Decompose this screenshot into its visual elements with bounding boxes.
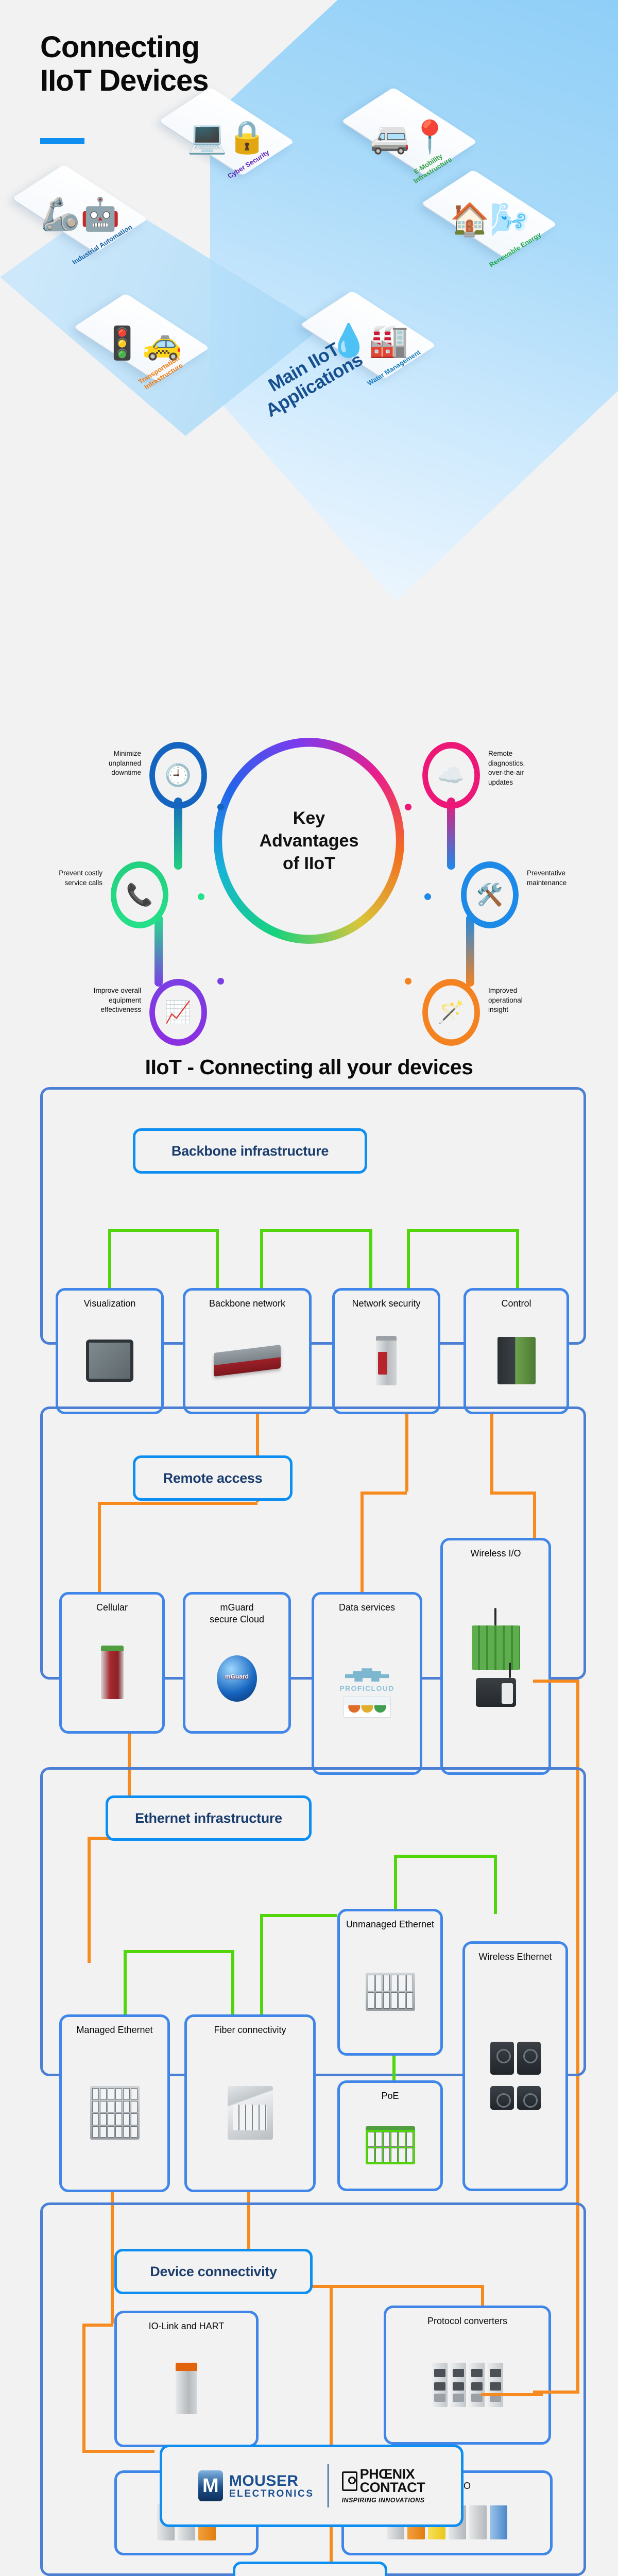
title-underline-rule [40, 138, 84, 144]
ev-charging-station-icon: 🚐📍 [369, 87, 451, 154]
card-control[interactable]: Control [463, 1288, 569, 1414]
card-visualization[interactable]: Visualization [56, 1288, 164, 1414]
cellular-router-icon [62, 1614, 162, 1731]
wire-green [260, 1914, 337, 1917]
mouser-m-mark-icon: M [198, 2470, 223, 2501]
card-wireless-ethernet[interactable]: Wireless Ethernet [462, 1941, 568, 2191]
wire-green [407, 1229, 410, 1291]
wrench-screwdriver-icon: 🛠️ [461, 861, 519, 928]
advantage-dot [217, 978, 224, 985]
advantage-remote-diagnostics-ota-updates[interactable]: ☁️ Remote diagnostics, over-the-air upda… [422, 742, 480, 809]
group-heading-remote-access: Remote access [133, 1455, 293, 1501]
wire-green [369, 1229, 372, 1291]
proficloud-mark-icon [345, 1668, 389, 1682]
card-label: Data services [339, 1602, 395, 1614]
card-label: Unmanaged Ethernet [346, 1919, 434, 1930]
card-label: mGuard secure Cloud [210, 1602, 264, 1626]
advantage-dot [198, 893, 204, 900]
logo-divider [328, 2464, 329, 2507]
poe-switch-icon [340, 2102, 440, 2189]
io-link-module-icon [117, 2332, 256, 2445]
card-cellular[interactable]: Cellular [59, 1592, 165, 1734]
mouser-electronics-logo[interactable]: M MOUSER ELECTRONICS [198, 2470, 314, 2501]
phoenix-contact-logo[interactable]: PHŒNIX CONTACT INSPIRING INNOVATIONS [342, 2468, 425, 2504]
laptop-padlock-icon: 💻🔒 [186, 87, 268, 154]
mouser-subtitle: ELECTRONICS [229, 2489, 314, 2499]
diagram-title: IIoT - Connecting all your devices [0, 1055, 618, 1079]
phoenix-p-mark-icon [342, 2471, 357, 2491]
advantage-label: Preventative maintenance [527, 869, 604, 888]
rack-server-icon [185, 1310, 309, 1412]
protocol-converter-icon [386, 2327, 548, 2442]
group-heading-backbone-infrastructure: Backbone infrastructure [133, 1128, 367, 1174]
advantage-dot [217, 804, 224, 810]
wire-green [216, 1229, 219, 1291]
advantage-dot [405, 978, 411, 985]
card-unmanaged-ethernet[interactable]: Unmanaged Ethernet [337, 1909, 443, 2056]
proficloud-icon: PROFICLOUD [314, 1614, 420, 1772]
short-url-box[interactable]: mou.sr/ph-iiot [233, 2562, 387, 2576]
wire-green [407, 1229, 519, 1232]
din-rail-firewall-icon [335, 1310, 438, 1412]
managed-switch-icon [62, 2036, 167, 2190]
card-label: Visualization [84, 1298, 136, 1310]
card-managed-ethernet[interactable]: Managed Ethernet [59, 2014, 170, 2192]
card-label: Fiber connectivity [214, 2024, 286, 2036]
card-poe[interactable]: PoE [337, 2080, 443, 2191]
card-mguard-secure-cloud[interactable]: mGuard secure Cloud [183, 1592, 291, 1734]
wireless-access-point-icon [465, 1963, 565, 2189]
wire-green [260, 1229, 263, 1291]
solar-panel-wind-turbine-icon: 🏠🌬️ [449, 169, 531, 236]
advantage-minimize-unplanned-downtime[interactable]: 🕘 Minimize unplanned downtime [149, 742, 207, 809]
wire-green [260, 1914, 263, 2017]
dashboard-thumbnail [344, 1697, 391, 1718]
advantage-label: Prevent costly service calls [25, 869, 102, 888]
wire-green [394, 1855, 397, 1911]
card-label: Network security [352, 1298, 420, 1310]
cloud-sync-icon: ☁️ [422, 742, 480, 809]
robot-arm-conveyor-icon: 🦾🤖 [39, 164, 122, 231]
advantage-label: Minimize unplanned downtime [64, 749, 141, 778]
group-heading-device-connectivity: Device connectivity [114, 2249, 313, 2294]
card-label: IO-Link and HART [149, 2320, 225, 2332]
group-heading-ethernet-infrastructure: Ethernet infrastructure [106, 1795, 312, 1841]
phone-dollar-icon: 📞 [111, 861, 168, 928]
wire-green [394, 1855, 497, 1858]
clock-arrow-down-icon: 🕘 [149, 742, 207, 809]
advantages-center-title: Key Advantages of IIoT [214, 738, 404, 944]
advantage-label: Remote diagnostics, over-the-air updates [488, 749, 565, 788]
card-label: Managed Ethernet [76, 2024, 152, 2036]
unmanaged-switch-icon [340, 1930, 440, 2053]
phoenix-wordmark-line2: CONTACT [360, 2481, 425, 2495]
wire-green [124, 1950, 127, 2017]
wire-green [516, 1229, 519, 1291]
application-tile-cyber-security[interactable]: 💻🔒 Cyber Security [178, 82, 299, 204]
wireless-io-module-icon [443, 1560, 548, 1772]
iiot-connectivity-diagram: IIoT - Connecting all your devices Backb… [0, 999, 618, 2576]
key-advantages-section: Key Advantages of IIoT 🕘 Minimize unplan… [0, 680, 618, 999]
card-data-services[interactable]: Data services PROFICLOUD [312, 1592, 422, 1775]
advantage-preventative-maintenance[interactable]: 🛠️ Preventative maintenance [461, 861, 519, 928]
wire-green [108, 1229, 111, 1291]
card-label: Wireless I/O [470, 1548, 521, 1560]
wire-green [260, 1229, 372, 1232]
advantage-prevent-costly-service-calls[interactable]: 📞 Prevent costly service calls [111, 861, 168, 928]
wire-green [231, 1950, 234, 2017]
card-wireless-io[interactable]: Wireless I/O [440, 1538, 551, 1775]
card-protocol-converters[interactable]: Protocol converters [384, 2306, 551, 2445]
application-tile-renewable-energy[interactable]: 🏠🌬️ Renewable Energy [440, 165, 561, 286]
wire-green [392, 2055, 396, 2083]
wire-orange [576, 2298, 579, 2391]
card-label: Control [501, 1298, 531, 1310]
wire-orange [533, 1680, 579, 1683]
hmi-panel-icon [58, 1310, 161, 1412]
card-label: Backbone network [209, 1298, 285, 1310]
crosswalk-traffic-icon: 🚦🚕 [101, 293, 183, 360]
wire-green [108, 1229, 219, 1232]
plc-controller-icon [466, 1310, 566, 1412]
proficloud-brand-label: PROFICLOUD [339, 1684, 394, 1692]
application-tile-industrial-automation[interactable]: 🦾🤖 Industrial Automation [31, 160, 152, 281]
application-tile-transportation-infrastructure[interactable]: 🚦🚕 Transportation Infrastructure [93, 289, 214, 410]
card-fiber-connectivity[interactable]: Fiber connectivity [184, 2014, 316, 2192]
fiber-switch-icon [187, 2036, 313, 2190]
card-label: Wireless Ethernet [478, 1951, 552, 1963]
mguard-globe-icon [185, 1626, 288, 1731]
partner-logos-box[interactable]: M MOUSER ELECTRONICS PHŒNIX CONTACT INSP… [160, 2445, 463, 2527]
phoenix-tagline: INSPIRING INNOVATIONS [342, 2497, 425, 2504]
wire-green [494, 1855, 497, 1914]
card-label: Cellular [96, 1602, 128, 1614]
mouser-wordmark: MOUSER [229, 2473, 314, 2489]
advantage-dot [405, 804, 411, 810]
card-label: PoE [381, 2090, 399, 2102]
card-network-security[interactable]: Network security [332, 1288, 440, 1414]
card-io-link-and-hart[interactable]: IO-Link and HART [114, 2311, 259, 2447]
card-label: Protocol converters [427, 2315, 507, 2327]
advantage-dot [424, 893, 431, 900]
card-backbone-network[interactable]: Backbone network [183, 1288, 312, 1414]
wire-orange [533, 2391, 579, 2394]
phoenix-wordmark-line1: PHŒNIX [360, 2468, 425, 2481]
hero-section: Connecting IIoT Devices 💻🔒 Cyber Securit… [0, 0, 618, 680]
wire-green [124, 1950, 234, 1953]
